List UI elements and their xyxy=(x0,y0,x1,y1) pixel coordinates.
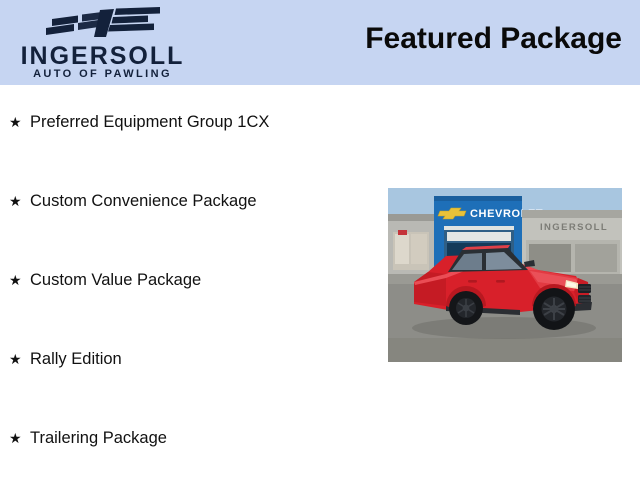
dealer-brand-logo[interactable]: INGERSOLL AUTO OF PAWLING xyxy=(0,0,210,85)
star-bullet-icon: ★ xyxy=(9,194,22,208)
list-item-label: Trailering Package xyxy=(30,421,167,447)
header-band: INGERSOLL AUTO OF PAWLING Featured Packa… xyxy=(0,0,640,85)
list-item: ★ Preferred Equipment Group 1CX xyxy=(0,105,380,184)
list-item: ★ Rally Edition xyxy=(0,342,380,421)
star-bullet-icon: ★ xyxy=(9,273,22,287)
vehicle-photo-image: CHEVROLET INGERSOLL xyxy=(388,188,622,362)
svg-text:INGERSOLL: INGERSOLL xyxy=(540,222,608,233)
star-bullet-icon: ★ xyxy=(9,352,22,366)
list-item: ★ Custom Value Package xyxy=(0,263,380,342)
star-bullet-icon: ★ xyxy=(9,431,22,445)
dealer-tagline: AUTO OF PAWLING xyxy=(0,69,205,80)
winged-checkered-flag-icon xyxy=(44,6,162,40)
list-item-label: Preferred Equipment Group 1CX xyxy=(30,105,269,131)
star-bullet-icon: ★ xyxy=(9,115,22,129)
vehicle-photo[interactable]: CHEVROLET INGERSOLL xyxy=(388,188,622,362)
list-item-label: Rally Edition xyxy=(30,342,122,368)
list-item: ★ Custom Convenience Package xyxy=(0,184,380,263)
list-item: ★ Trailering Package xyxy=(0,421,380,480)
list-item-label: Custom Value Package xyxy=(30,263,201,289)
list-item-label: Custom Convenience Package xyxy=(30,184,257,210)
dealer-wordmark: INGERSOLL xyxy=(0,44,205,69)
page-title: Featured Package xyxy=(365,22,622,56)
featured-package-list: ★ Preferred Equipment Group 1CX ★ Custom… xyxy=(0,105,380,480)
